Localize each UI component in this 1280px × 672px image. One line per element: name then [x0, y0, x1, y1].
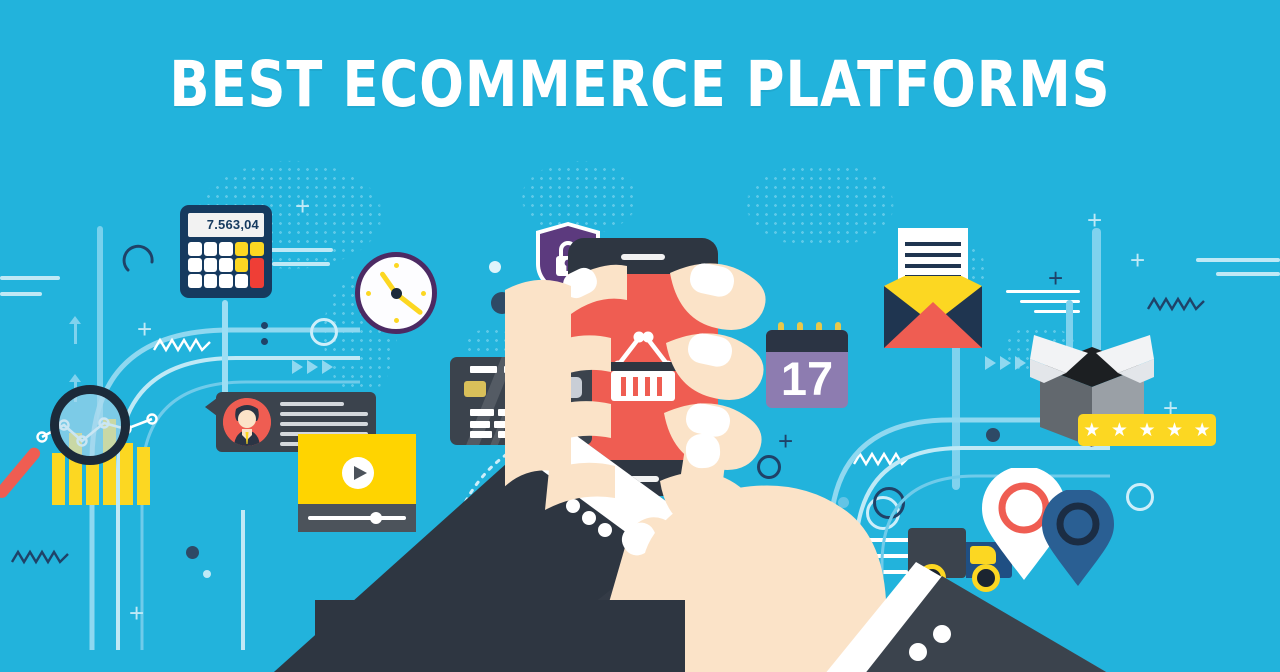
calculator-key-operator[interactable] — [235, 242, 249, 256]
calculator-key[interactable] — [188, 258, 202, 272]
calculator-key[interactable] — [188, 242, 202, 256]
calculator-key[interactable] — [219, 258, 233, 272]
line-decoration — [0, 276, 60, 280]
calculator-key[interactable] — [188, 274, 202, 288]
letter-text-line — [905, 253, 961, 257]
illustration-canvas: + + + + + + + + + — [0, 0, 1280, 672]
star-icon: ★ — [1111, 421, 1128, 440]
calculator-key[interactable] — [219, 242, 233, 256]
clock-marker — [394, 263, 399, 268]
calculator-display-value: 7.563,04 — [207, 217, 259, 232]
line-decoration — [0, 292, 42, 296]
dot-decoration — [261, 322, 268, 329]
calculator-key[interactable] — [219, 274, 233, 288]
letter-text-line — [905, 264, 961, 268]
card-number — [470, 409, 494, 416]
chat-text-line — [280, 402, 344, 406]
star-icon: ★ — [1194, 421, 1211, 440]
clock-icon — [355, 252, 437, 334]
star-icon: ★ — [1166, 421, 1183, 440]
calculator-key[interactable] — [235, 274, 249, 288]
star-icon: ★ — [1138, 421, 1155, 440]
chart-bar — [137, 447, 150, 505]
calculator-display: 7.563,04 — [188, 213, 264, 237]
email-envelope-icon — [884, 228, 982, 348]
line-decoration — [272, 262, 330, 266]
letter-text-line — [905, 242, 961, 246]
open-circle-arc-icon — [118, 240, 162, 284]
calculator-widget[interactable]: 7.563,04 — [180, 205, 272, 298]
magnifier-lens — [50, 385, 130, 465]
ring-decoration — [310, 318, 338, 346]
dot-decoration — [186, 546, 199, 559]
dot-decoration — [203, 570, 211, 578]
calculator-key-operator[interactable] — [235, 258, 249, 272]
chat-bubble-tail — [205, 398, 217, 416]
clock-marker — [394, 318, 399, 323]
plus-decoration: + — [137, 316, 152, 342]
dot-decoration — [261, 338, 268, 345]
star-icon: ★ — [1083, 421, 1100, 440]
calculator-key-operator[interactable] — [250, 242, 264, 256]
plus-decoration: + — [129, 600, 144, 626]
calculator-keypad[interactable] — [188, 242, 264, 288]
chart-bar — [52, 453, 65, 505]
line-decoration — [1216, 272, 1280, 276]
chart-bar — [86, 463, 99, 505]
zigzag-decoration — [1146, 295, 1208, 315]
left-arm-lower — [255, 600, 685, 672]
line-decoration — [1196, 258, 1280, 262]
analytics-magnifier — [34, 385, 159, 505]
ring-decoration — [1126, 483, 1154, 511]
right-arm-sleeve — [820, 530, 1120, 672]
chat-text-line — [280, 412, 368, 416]
star-rating: ★ ★ ★ ★ ★ — [1078, 414, 1216, 446]
calculator-key[interactable] — [204, 258, 218, 272]
calculator-key[interactable] — [204, 242, 218, 256]
page-title: BEST ECOMMERCE PLATFORMS — [45, 48, 1235, 121]
calculator-key[interactable] — [204, 274, 218, 288]
clock-center-pin — [391, 288, 402, 299]
plus-decoration: + — [1130, 247, 1145, 273]
card-chip — [464, 381, 486, 397]
up-arrow-decoration — [74, 322, 77, 344]
zigzag-decoration — [10, 548, 72, 568]
clock-marker — [421, 291, 426, 296]
triangle-arrows-decoration — [292, 360, 333, 374]
plus-decoration: + — [295, 193, 310, 219]
dot-decoration — [489, 261, 501, 273]
card-line — [470, 366, 497, 373]
zigzag-decoration — [152, 336, 214, 356]
calculator-key-equals[interactable] — [250, 258, 264, 288]
clock-marker — [366, 291, 371, 296]
envelope-body — [884, 276, 982, 348]
